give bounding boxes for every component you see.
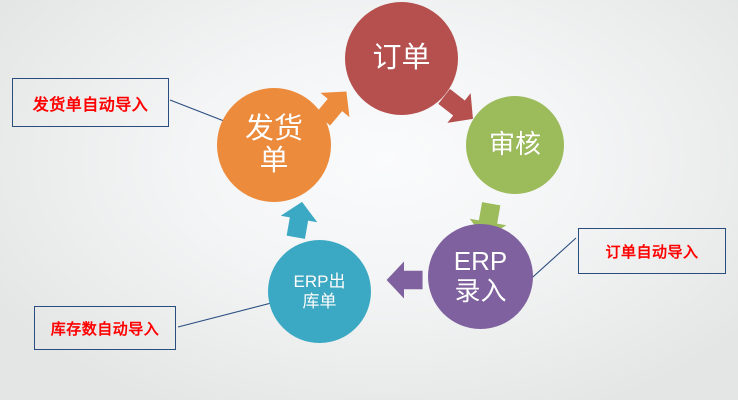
diagram-canvas: 订单 审核 ERP 录入 ERP出 库单 发货 单 发货单自动导入 库存数自动导…: [0, 0, 738, 400]
node-review-label: 审核: [483, 130, 547, 159]
node-erp-entry-label-line1: ERP: [454, 246, 507, 276]
node-review[interactable]: 审核: [466, 96, 564, 194]
callout-shipment-text: 发货单自动导入: [33, 91, 149, 115]
node-erp-out-label: ERP出 库单: [288, 272, 352, 310]
node-order-label: 订单: [366, 42, 436, 74]
node-order[interactable]: 订单: [345, 2, 458, 115]
connector-line-stock: [178, 300, 283, 327]
node-erp-entry-label: ERP 录入: [448, 247, 513, 305]
node-erp-out-label-line1: ERP出: [294, 272, 346, 291]
callout-stock-auto-import[interactable]: 库存数自动导入: [34, 306, 176, 350]
node-shipment-label-line1: 发货: [245, 113, 303, 145]
node-erp-entry[interactable]: ERP 录入: [428, 224, 533, 329]
node-shipment[interactable]: 发货 单: [217, 88, 331, 202]
callout-shipment-auto-import[interactable]: 发货单自动导入: [12, 78, 169, 127]
callout-order-auto-import[interactable]: 订单自动导入: [578, 228, 726, 274]
node-shipment-label: 发货 单: [239, 113, 309, 178]
callout-stock-text: 库存数自动导入: [51, 318, 160, 339]
node-erp-out-label-line2: 库单: [303, 292, 337, 311]
arrow-erp-entry-to-erp-out: [387, 261, 423, 298]
callout-order-text: 订单自动导入: [605, 241, 698, 262]
arrow-erp-out-to-shipment: [277, 199, 320, 241]
node-shipment-label-line2: 单: [259, 145, 288, 177]
node-erp-entry-label-line2: 录入: [454, 276, 506, 306]
node-erp-out[interactable]: ERP出 库单: [268, 240, 371, 343]
